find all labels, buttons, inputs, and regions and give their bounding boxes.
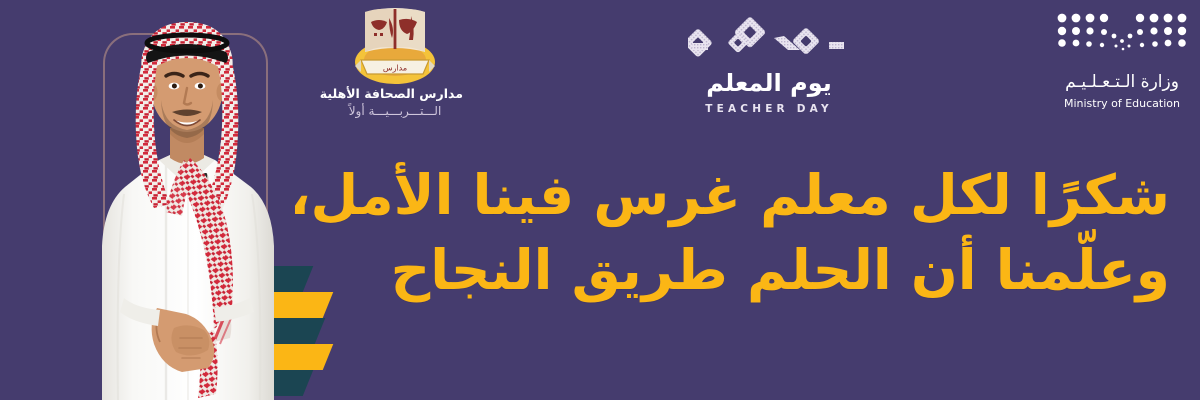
school-tagline: الـــتـــربـــيـــة أولاً bbox=[327, 104, 463, 118]
teacher-day-logo: يوم المعلم TEACHER DAY bbox=[688, 14, 850, 124]
headline: شكرًا لكل معلم غرس فينا الأمل، وعلّمنا أ… bbox=[380, 158, 1170, 308]
ministry-english-label: Ministry of Education bbox=[1052, 97, 1192, 110]
teacher-day-english-label: TEACHER DAY bbox=[688, 103, 850, 115]
ministry-logo: وزارة الـتـعـلـيـم Ministry of Education bbox=[1052, 10, 1192, 120]
teacher-day-zigzag-diamonds-icon bbox=[688, 14, 850, 60]
teacher-day-banner: شكرًا لكل معلم غرس فينا الأمل، وعلّمنا أ… bbox=[0, 0, 1200, 400]
school-name: مدارس الصحافة الأهلية bbox=[327, 87, 463, 101]
saudi-male-teacher-portrait bbox=[62, 8, 312, 400]
svg-text:مدارس: مدارس bbox=[383, 64, 407, 73]
ministry-of-education-dots-icon bbox=[1052, 10, 1192, 58]
open-book-emblem-icon: مدارس bbox=[327, 4, 463, 86]
headline-line-2: وعلّمنا أن الحلم طريق النجاح bbox=[380, 233, 1170, 308]
headline-line-1: شكرًا لكل معلم غرس فينا الأمل، bbox=[380, 158, 1170, 233]
school-logo: مدارس مدارس الصحافة الأهلية الـــتـــربـ… bbox=[327, 4, 463, 130]
ministry-arabic-label: وزارة الـتـعـلـيـم bbox=[1052, 72, 1192, 92]
teacher-day-arabic-label: يوم المعلم bbox=[688, 71, 850, 95]
